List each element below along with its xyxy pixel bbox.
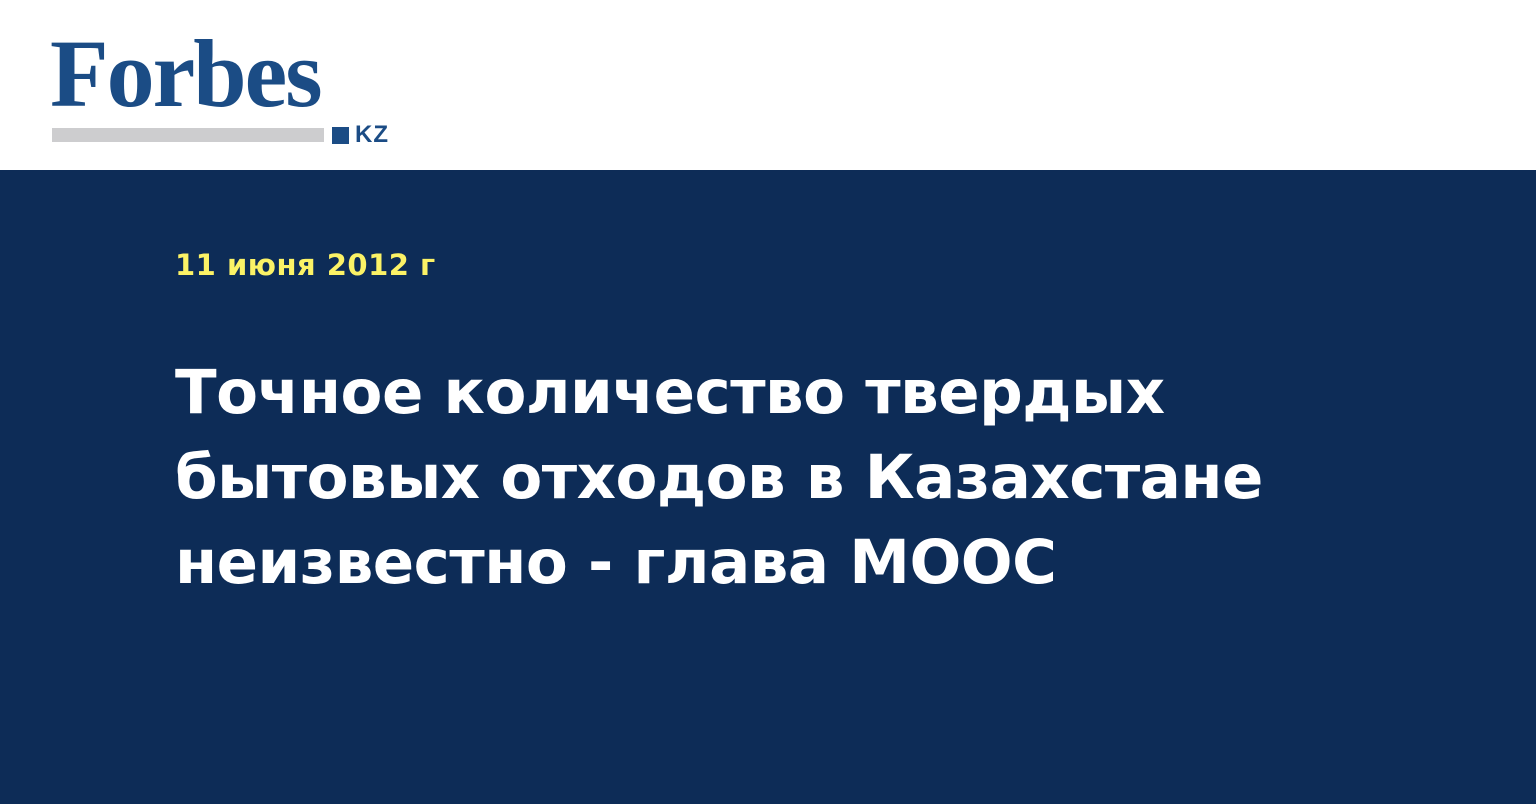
site-header: Forbes KZ xyxy=(0,0,1536,170)
logo-underline-bar xyxy=(52,128,324,142)
logo-kz-suffix: KZ xyxy=(355,123,389,147)
article-headline: Точное количество твердых бытовых отходо… xyxy=(175,350,1335,605)
forbes-wordmark: Forbes xyxy=(50,24,410,124)
article-hero-banner: 11 июня 2012 г Точное количество твердых… xyxy=(0,170,1536,804)
article-hero-page: Forbes KZ 11 июня 2012 г Точное количест… xyxy=(0,0,1536,804)
article-publish-date: 11 июня 2012 г xyxy=(175,248,436,282)
headline-line: бытовых отходов в Казахстане xyxy=(175,435,1335,520)
article-hero-content: 11 июня 2012 г Точное количество твердых… xyxy=(175,170,1475,804)
headline-line: Точное количество твердых xyxy=(175,350,1335,435)
forbes-kz-logo[interactable]: Forbes KZ xyxy=(50,24,410,146)
logo-square-icon xyxy=(332,127,349,144)
headline-line: неизвестно - глава МООС xyxy=(175,520,1335,605)
